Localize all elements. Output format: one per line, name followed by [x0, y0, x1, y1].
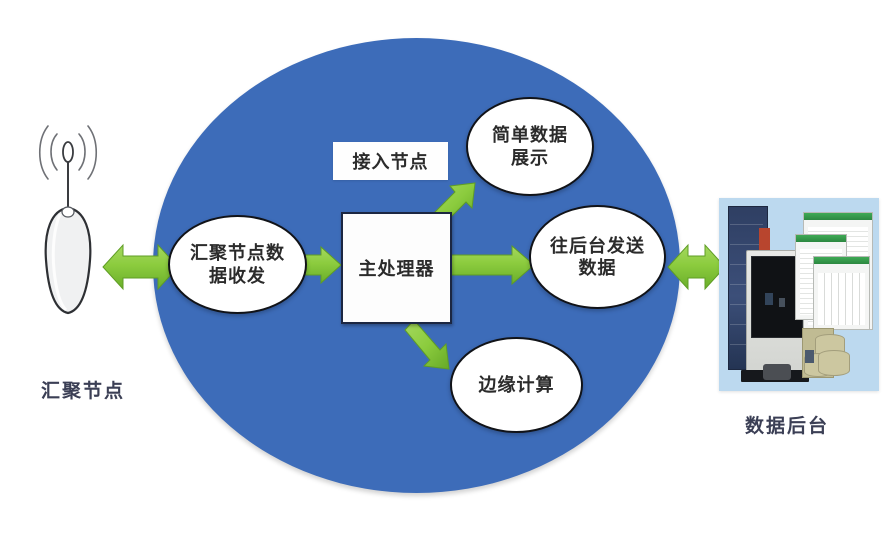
bottom-watermark: [232, 513, 662, 529]
node-display-line2: 展示: [511, 148, 549, 168]
node-display-line1: 简单数据: [492, 125, 568, 145]
rack-line: [730, 224, 763, 225]
node-backend-line2: 数据: [579, 258, 617, 278]
label-access-node: 接入节点: [333, 142, 448, 180]
antenna-icon: [18, 110, 123, 325]
access-node-text: 接入节点: [353, 148, 429, 174]
main-processor-label: 主处理器: [359, 255, 435, 281]
caption-data-backend: 数据后台: [745, 411, 829, 438]
node-send-to-backend[interactable]: 往后台发送 数据: [529, 205, 666, 309]
node-sink-line2: 据收发: [209, 266, 266, 286]
window-titlebar-icon: [796, 235, 846, 242]
node-sink-label: 汇聚节点数 据收发: [190, 242, 285, 287]
window-content: [818, 273, 865, 325]
tower-led: [765, 293, 773, 305]
tower-foot: [763, 364, 791, 380]
node-simple-display[interactable]: 简单数据 展示: [466, 97, 594, 196]
node-sink-line1: 汇聚节点数: [190, 243, 285, 263]
node-edge-label: 边缘计算: [479, 374, 555, 397]
arrow-processor-to-edge: [405, 320, 449, 369]
database-door: [805, 350, 814, 363]
caption-sink-node: 汇聚节点: [41, 376, 125, 403]
main-processor-box[interactable]: 主处理器: [341, 212, 452, 324]
node-display-label: 简单数据 展示: [492, 124, 568, 169]
node-backend-label: 往后台发送 数据: [550, 235, 645, 280]
monitor-window-front: [813, 256, 870, 330]
diagram-canvas: 汇聚节点 汇聚节点数 据收发 简单数据 展示 往后台发送 数据 边缘计算 接入节…: [0, 0, 895, 533]
window-titlebar-icon: [804, 213, 872, 220]
arrow-processor-to-backend: [448, 246, 534, 284]
database-cylinder-icon: [818, 350, 850, 376]
node-edge-computing[interactable]: 边缘计算: [450, 337, 583, 433]
arrow-cloud-to-server: [668, 245, 725, 289]
arrow-sink-to-processor: [303, 247, 341, 283]
node-sink-data-transceive[interactable]: 汇聚节点数 据收发: [168, 215, 307, 314]
window-titlebar-icon: [814, 257, 869, 264]
rack-indicator: [759, 228, 770, 250]
node-backend-line1: 往后台发送: [550, 236, 645, 256]
tower-led: [779, 298, 785, 307]
backend-server-image: [719, 198, 879, 391]
